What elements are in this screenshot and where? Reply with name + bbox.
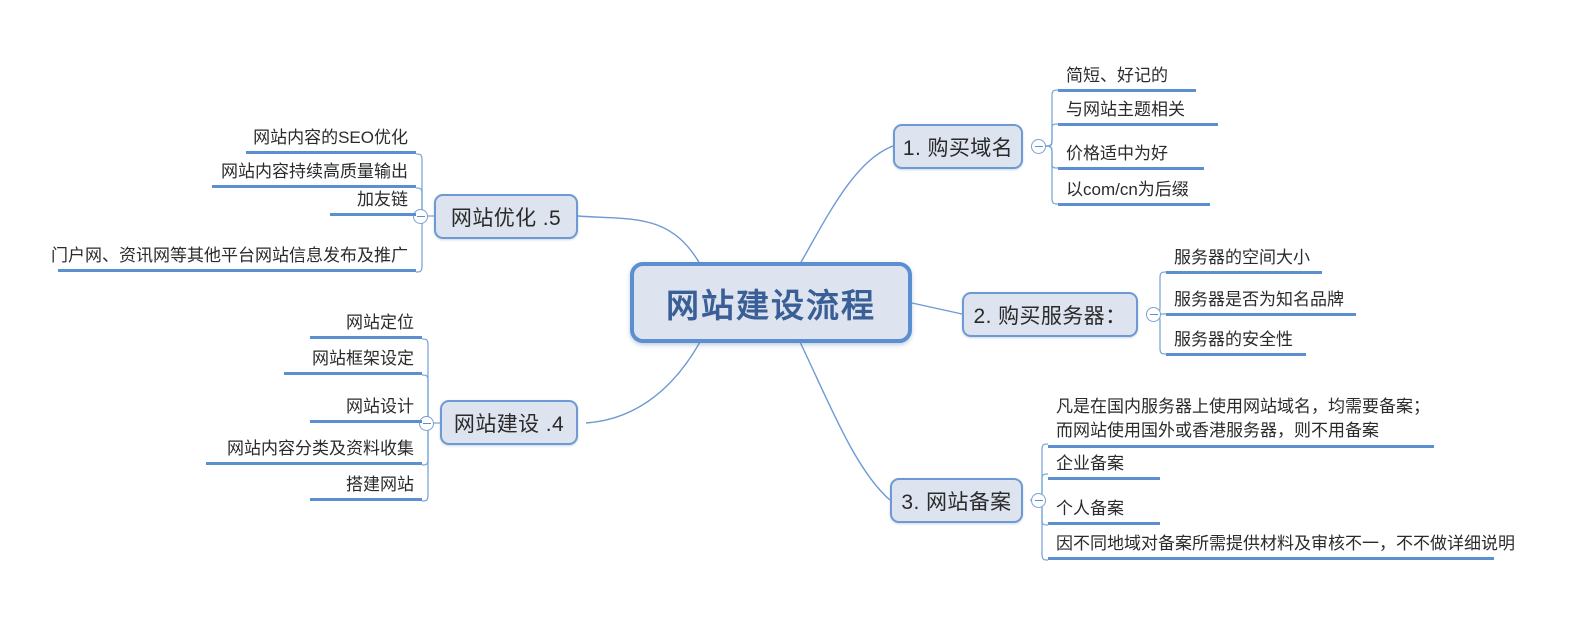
link-b1-c3 xyxy=(1046,146,1058,204)
leaf-label: 因不同地域对备案所需提供材料及审核不一，不不做详细说明 xyxy=(1056,532,1515,555)
link-b4-c0 xyxy=(422,339,440,423)
leaf-label: 凡是在国内服务器上使用网站域名，均需要备案； 而网站使用国外或香港服务器，则不用… xyxy=(1056,395,1430,443)
collapse-toggle-branch-1[interactable] xyxy=(1031,139,1046,154)
leaf-label: 网站内容分类及资料收集 xyxy=(227,437,414,460)
link-b1-c1 xyxy=(1046,124,1058,146)
leaf-item[interactable]: 企业备案 xyxy=(1048,452,1160,480)
leaf-item[interactable]: 搭建网站 xyxy=(310,473,422,501)
leaf-item[interactable]: 个人备案 xyxy=(1048,497,1160,525)
leaf-item[interactable]: 网站设计 xyxy=(310,395,422,423)
leaf-item[interactable]: 以com/cn为后缀 xyxy=(1058,176,1210,206)
leaf-label: 服务器的安全性 xyxy=(1174,328,1293,351)
leaf-label: 网站框架设定 xyxy=(312,347,414,370)
leaf-label: 企业备案 xyxy=(1056,452,1124,475)
leaf-label: 服务器的空间大小 xyxy=(1174,246,1310,269)
collapse-toggle-branch-2[interactable] xyxy=(1146,307,1161,322)
link-b1-c0 xyxy=(1040,90,1058,146)
leaf-item[interactable]: 简短、好记的 xyxy=(1058,62,1196,92)
link-b3-c0 xyxy=(1030,444,1048,500)
link-root-branch-2 xyxy=(912,303,962,314)
mindmap-canvas: 网站建设流程 1. 购买域名 简短、好记的 与网站主题相关 价格适中为好 以co… xyxy=(0,0,1580,631)
branch-node-1[interactable]: 1. 购买域名 xyxy=(893,124,1023,169)
link-b4-c4 xyxy=(422,423,434,501)
leaf-item[interactable]: 因不同地域对备案所需提供材料及审核不一，不不做详细说明 xyxy=(1048,532,1494,560)
leaf-label: 个人备案 xyxy=(1056,497,1124,520)
leaf-label: 网站定位 xyxy=(346,311,414,334)
leaf-label: 以com/cn为后缀 xyxy=(1066,178,1189,201)
leaf-item[interactable]: 网站定位 xyxy=(310,311,422,339)
leaf-label: 加友链 xyxy=(357,188,408,211)
leaf-item[interactable]: 网站框架设定 xyxy=(284,347,422,375)
branch-node-4[interactable]: 网站建设 .4 xyxy=(440,400,578,445)
leaf-label: 网站设计 xyxy=(346,395,414,418)
leaf-label: 与网站主题相关 xyxy=(1066,98,1185,121)
leaf-item[interactable]: 服务器的空间大小 xyxy=(1166,244,1322,274)
leaf-item[interactable]: 加友链 xyxy=(330,188,416,216)
leaf-item[interactable]: 网站内容分类及资料收集 xyxy=(206,437,422,465)
leaf-item[interactable]: 服务器是否为知名品牌 xyxy=(1166,286,1356,316)
link-root-branch-4 xyxy=(586,342,700,423)
leaf-label: 门户网、资讯网等其他平台网站信息发布及推广 xyxy=(51,244,408,267)
link-b1-c2 xyxy=(1046,146,1058,168)
root-node[interactable]: 网站建设流程 xyxy=(630,262,912,343)
link-root-branch-3 xyxy=(800,342,890,500)
collapse-toggle-branch-3[interactable] xyxy=(1031,493,1046,508)
leaf-item[interactable]: 网站内容的SEO优化 xyxy=(246,126,416,154)
leaf-label: 网站内容持续高质量输出 xyxy=(221,160,408,183)
leaf-item[interactable]: 网站内容持续高质量输出 xyxy=(212,160,416,188)
leaf-label: 搭建网站 xyxy=(346,473,414,496)
leaf-item[interactable]: 价格适中为好 xyxy=(1058,140,1204,170)
leaf-item[interactable]: 与网站主题相关 xyxy=(1058,96,1218,126)
leaf-item[interactable]: 门户网、资讯网等其他平台网站信息发布及推广 xyxy=(58,244,416,272)
link-b3-c3 xyxy=(1036,500,1048,560)
link-root-branch-1 xyxy=(800,146,893,264)
link-b5-c3 xyxy=(416,216,428,272)
leaf-label: 简短、好记的 xyxy=(1066,64,1168,87)
branch-node-5[interactable]: 网站优化 .5 xyxy=(434,194,578,239)
leaf-label: 价格适中为好 xyxy=(1066,142,1168,165)
branch-node-3[interactable]: 3. 网站备案 xyxy=(890,478,1023,523)
branch-node-2[interactable]: 2. 购买服务器： xyxy=(962,292,1138,337)
leaf-item[interactable]: 服务器的安全性 xyxy=(1166,326,1306,356)
link-root-branch-5 xyxy=(578,216,700,264)
leaf-label: 服务器是否为知名品牌 xyxy=(1174,288,1344,311)
link-b5-c0 xyxy=(416,154,434,216)
leaf-item[interactable]: 凡是在国内服务器上使用网站域名，均需要备案； 而网站使用国外或香港服务器，则不用… xyxy=(1048,396,1434,448)
leaf-label: 网站内容的SEO优化 xyxy=(253,126,408,149)
